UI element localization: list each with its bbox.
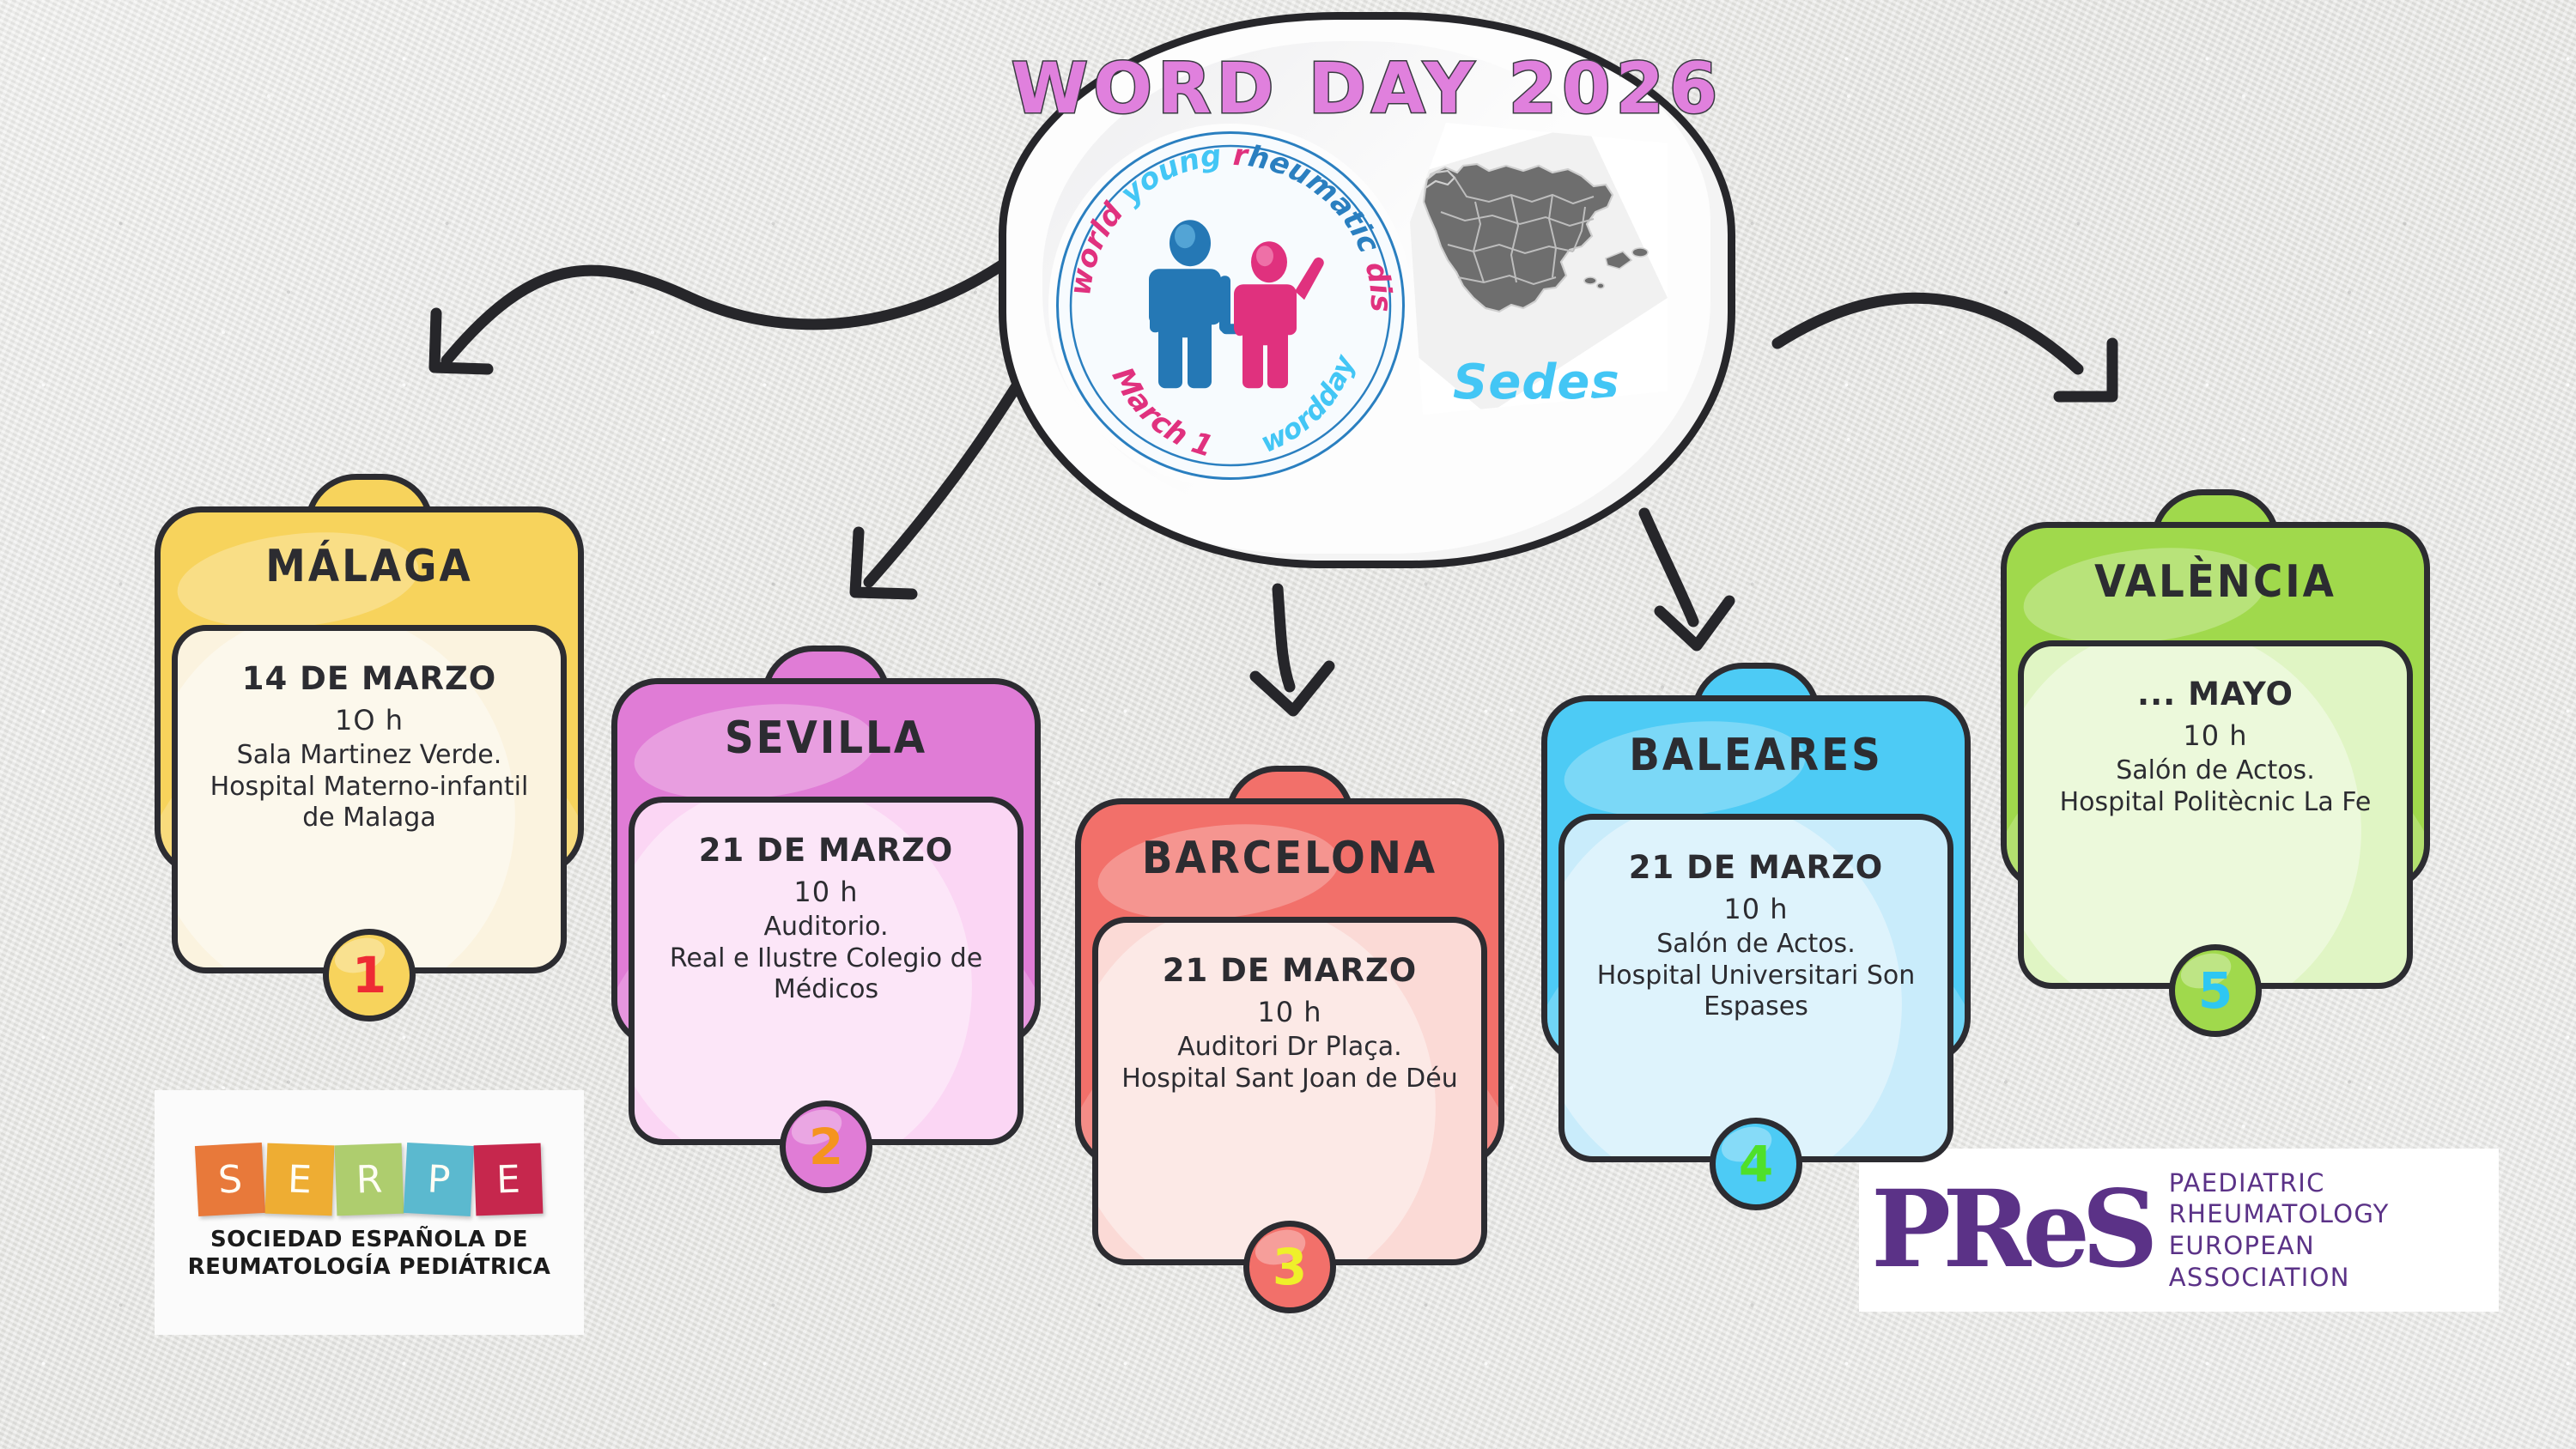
venue-line: Real e Ilustre Colegio de [653,943,999,975]
city-name-malaga: MÁLAGA [155,541,584,592]
badge-number: 1 [352,946,386,1004]
card-body-valencia: ... MAYO 10 h Salón de Actos. Hospital P… [2018,640,2413,989]
serpe-logo: S E R P E SOCIEDAD ESPAÑOLA DE REUMATOLO… [155,1090,584,1335]
arrow-head-baleares [1660,601,1729,646]
serpe-tile-e2: E [474,1143,544,1216]
serpe-line-1: SOCIEDAD ESPAÑOLA DE [188,1227,551,1254]
pres-line-2: RHEUMATOLOGY [2169,1198,2390,1230]
card-time-barcelona: 10 h [1117,996,1462,1028]
pres-logo: PReS PAEDIATRIC RHEUMATOLOGY EUROPEAN AS… [1859,1149,2499,1312]
pres-line-1: PAEDIATRIC [2169,1167,2390,1199]
card-date-barcelona: 21 DE MARZO [1117,952,1462,989]
city-name-valencia: VALÈNCIA [2001,556,2430,608]
pres-line-4: ASSOCIATION [2169,1262,2390,1294]
venue-line: Salón de Actos. [2043,755,2388,787]
city-name-sevilla: SEVILLA [611,712,1041,764]
serpe-line-2: REUMATOLOGÍA PEDIÁTRICA [188,1254,551,1282]
card-date-valencia: ... MAYO [2043,676,2388,712]
card-time-valencia: 10 h [2043,719,2388,752]
badge-number: 4 [1739,1135,1773,1193]
venue-line: Hospital Politècnic La Fe [2043,787,2388,819]
central-bubble: WORD DAY 2026 world young rheumatic dise… [999,12,1735,568]
number-badge-barcelona: 3 [1243,1221,1336,1313]
wyrdd-circular-logo: world young rheumatic diseases day March… [1056,131,1405,480]
card-body-sevilla: 21 DE MARZO 10 h Auditorio. Real e Ilust… [629,797,1024,1145]
card-body-barcelona: 21 DE MARZO 10 h Auditori Dr Plaça. Hosp… [1092,917,1487,1265]
card-body-baleares: 21 DE MARZO 10 h Salón de Actos. Hospita… [1558,814,1953,1162]
spain-map-panel: Sedes [1410,123,1668,415]
badge-number: 5 [2198,961,2233,1020]
badge-number: 3 [1273,1238,1307,1296]
city-card-valencia[interactable]: VALÈNCIA ... MAYO 10 h Salón de Actos. H… [2001,489,2430,1022]
card-venue-baleares: Salón de Actos. Hospital Universitari So… [1583,929,1929,1023]
arrow-path-baleares [1644,513,1693,621]
venue-line: Salón de Actos. [1583,929,1929,961]
card-time-malaga: 1O h [197,704,542,737]
arrow-path-barcelona [1278,589,1290,687]
serpe-tile-s: S [195,1143,265,1216]
card-date-sevilla: 21 DE MARZO [653,832,999,869]
venue-line: de Malaga [197,803,542,834]
number-badge-sevilla: 2 [780,1100,872,1193]
card-time-baleares: 10 h [1583,893,1929,925]
arrow-head-barcelona [1255,666,1329,711]
venue-line: Hospital Sant Joan de Déu [1117,1064,1462,1095]
number-badge-baleares: 4 [1710,1118,1802,1210]
number-badge-valencia: 5 [2169,944,2262,1037]
arrow-path-sevilla [869,378,1022,582]
city-name-barcelona: BARCELONA [1075,833,1504,884]
number-badge-malaga: 1 [323,929,416,1022]
card-time-sevilla: 10 h [653,876,999,908]
arrow-head-valencia [2059,343,2112,397]
venue-line: Auditori Dr Plaça. [1117,1032,1462,1064]
badge-number: 2 [809,1118,843,1176]
city-card-malaga[interactable]: MÁLAGA 14 DE MARZO 1O h Sala Martinez Ve… [155,474,584,1006]
venue-line: Auditorio. [653,912,999,943]
card-date-malaga: 14 DE MARZO [197,660,542,697]
city-name-baleares: BALEARES [1541,730,1971,781]
serpe-tile-r: R [335,1143,404,1216]
serpe-letter: P [426,1157,451,1202]
venue-line: Hospital Universitari Son [1583,961,1929,992]
arrow-head-sevilla [855,532,912,594]
pres-monogram: PReS [1871,1177,2150,1283]
sedes-label: Sedes [1453,355,1620,410]
spain-map-icon [1410,130,1668,387]
arrow-head-malaga [434,313,488,369]
two-children-holding-hands-icon [1132,219,1329,399]
city-card-sevilla[interactable]: SEVILLA 21 DE MARZO 10 h Auditorio. Real… [611,646,1041,1178]
city-card-barcelona[interactable]: BARCELONA 21 DE MARZO 10 h Auditori Dr P… [1075,766,1504,1298]
serpe-org-name: SOCIEDAD ESPAÑOLA DE REUMATOLOGÍA PEDIÁT… [188,1227,551,1281]
pres-org-name: PAEDIATRIC RHEUMATOLOGY EUROPEAN ASSOCIA… [2169,1167,2390,1293]
arrow-path-malaga [447,258,1013,361]
serpe-letter: R [355,1157,383,1202]
venue-line: Espases [1583,991,1929,1023]
card-venue-sevilla: Auditorio. Real e Ilustre Colegio de Méd… [653,912,999,1006]
serpe-letter-tiles: S E R P E [197,1144,542,1215]
serpe-letter: E [495,1157,521,1202]
arrow-path-valencia [1777,298,2078,369]
city-card-baleares[interactable]: BALEARES 21 DE MARZO 10 h Salón de Actos… [1541,663,1971,1195]
card-venue-malaga: Sala Martinez Verde. Hospital Materno-in… [197,740,542,834]
venue-line: Sala Martinez Verde. [197,740,542,772]
card-date-baleares: 21 DE MARZO [1583,849,1929,886]
serpe-tile-e1: E [265,1143,335,1216]
serpe-letter: E [287,1157,313,1202]
venue-line: Hospital Materno-infantil [197,772,542,803]
serpe-letter: S [217,1157,244,1202]
pres-line-3: EUROPEAN [2169,1230,2390,1262]
venue-line: Médicos [653,974,999,1006]
card-venue-valencia: Salón de Actos. Hospital Politècnic La F… [2043,755,2388,818]
card-body-malaga: 14 DE MARZO 1O h Sala Martinez Verde. Ho… [172,625,567,973]
card-venue-barcelona: Auditori Dr Plaça. Hospital Sant Joan de… [1117,1032,1462,1094]
serpe-tile-p: P [404,1143,474,1216]
page-title: WORD DAY 2026 [1006,49,1728,130]
